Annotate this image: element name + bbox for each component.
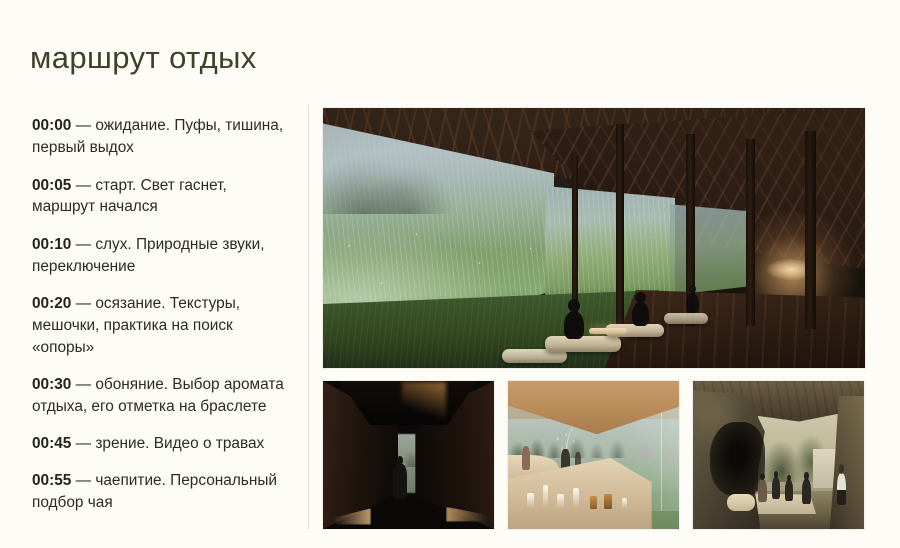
bouquet-icon: [552, 431, 579, 469]
list-item: 00:45 — зрение. Видео о травах: [32, 433, 294, 455]
bottle-icon: [557, 494, 564, 508]
timeline-dash: —: [76, 295, 91, 312]
timeline-dash: —: [76, 236, 91, 253]
bottle-icon: [527, 493, 534, 509]
tea-tray-icon: [589, 328, 627, 334]
timeline-text: зрение. Видео о травах: [95, 435, 264, 452]
timeline-time: 00:55: [32, 472, 71, 489]
slide-root: маршрут отдых 00:00 — ожидание. Пуфы, ти…: [0, 0, 900, 548]
list-item: 00:00 — ожидание. Пуфы, тишина, первый в…: [32, 115, 294, 159]
thumbnail-pavilion: [507, 380, 680, 530]
timeline-dash: —: [76, 117, 91, 134]
seated-person-icon: [802, 479, 811, 504]
column-icon: [572, 155, 578, 321]
column-icon: [616, 124, 624, 327]
bottle-icon: [543, 485, 549, 509]
timeline-dash: —: [76, 376, 91, 393]
timeline-time: 00:00: [32, 117, 71, 134]
cushion-icon: [727, 494, 754, 512]
timeline-dash: —: [76, 177, 91, 194]
bottle-icon: [604, 494, 611, 508]
cushion-icon: [545, 336, 621, 353]
timeline-dash: —: [76, 435, 91, 452]
seated-person-icon: [772, 477, 781, 499]
list-item: 00:30 — обоняние. Выбор аромата отдыха, …: [32, 374, 294, 418]
seated-person-icon: [686, 293, 699, 314]
timeline-time: 00:05: [32, 177, 71, 194]
timeline-time: 00:10: [32, 236, 71, 253]
list-item: 00:20 — осязание. Текстуры, мешочки, пра…: [32, 293, 294, 359]
thumbnail-row: [322, 380, 866, 530]
projection-screen-middle: [545, 186, 675, 306]
timeline-time: 00:30: [32, 376, 71, 393]
column-icon: [805, 131, 815, 329]
corridor-ceiling-glow: [402, 382, 446, 420]
timeline-time: 00:45: [32, 435, 71, 452]
timeline-dash: —: [76, 472, 91, 489]
projection-screen-right: [670, 204, 751, 295]
standing-person-icon: [522, 446, 531, 470]
walking-person-icon: [393, 464, 407, 500]
bottle-icon: [590, 496, 597, 508]
list-item: 00:10 — слух. Природные звуки, переключе…: [32, 234, 294, 278]
thumbnail-corridor: [322, 380, 495, 530]
timeline-list: 00:00 — ожидание. Пуфы, тишина, первый в…: [32, 100, 294, 514]
seated-person-icon: [785, 480, 793, 501]
bottle-icon: [573, 488, 579, 509]
thumbnail-grotto: [692, 380, 865, 530]
timeline-time: 00:20: [32, 295, 71, 312]
vertical-divider: [308, 105, 309, 529]
list-item: 00:55 — чаепитие. Персональный подбор ча…: [32, 470, 294, 514]
column-icon: [746, 139, 755, 326]
page-title: маршрут отдых: [30, 39, 257, 76]
list-item: 00:05 — старт. Свет гаснет, маршрут нача…: [32, 175, 294, 219]
bottle-icon: [622, 498, 628, 508]
media-column: [322, 107, 866, 530]
seated-person-icon: [758, 479, 767, 503]
seated-person-icon: [564, 311, 584, 340]
standing-person-icon: [837, 473, 846, 506]
table-bottles-group: [518, 470, 662, 517]
cushion-icon: [664, 313, 707, 323]
hero-image: [322, 107, 866, 369]
seated-person-icon: [632, 302, 649, 327]
grotto-cavity: [710, 422, 765, 496]
